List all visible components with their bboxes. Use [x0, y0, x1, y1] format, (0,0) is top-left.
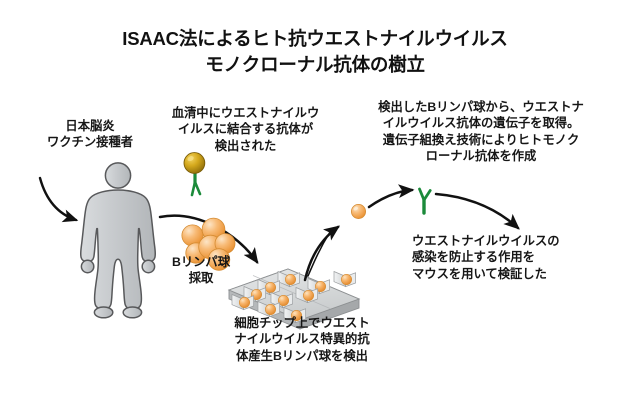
antibody-y-icon	[420, 189, 431, 213]
figure-canvas: ISAAC法によるヒト抗ウエストナイルウイルス モノクローナル抗体の樹立	[0, 0, 630, 401]
virus-particle-icon	[351, 204, 365, 218]
caption-cell-chip: 細胞チップ上でウエスト ナイルウイルス特異的抗 体産生Bリンパ球を検出	[192, 315, 412, 364]
caption-serum: 血清中にウエストナイルウ イルスに結合する抗体が 検出された	[143, 105, 348, 154]
arrow-particle-to-antibody	[369, 190, 412, 207]
caption-mouse-validation: ウエストナイルウイルスの 感染を防止する作用を マウスを用いて検証した	[412, 233, 627, 282]
caption-subject: 日本脳炎 ワクチン接種者	[30, 118, 150, 151]
arrow-to-subject	[40, 178, 76, 220]
person-silhouette-icon	[81, 163, 156, 318]
caption-gene: 検出したBリンパ球から、ウエストナ イルウイルス抗体の遺伝子を取得。 遺伝子組換…	[352, 99, 610, 164]
antibody-bound-virus-icon	[184, 153, 205, 195]
arrow-antibody-to-validation	[436, 194, 518, 228]
caption-b-lymphocyte-collection: Bリンパ球 採取	[155, 254, 247, 287]
